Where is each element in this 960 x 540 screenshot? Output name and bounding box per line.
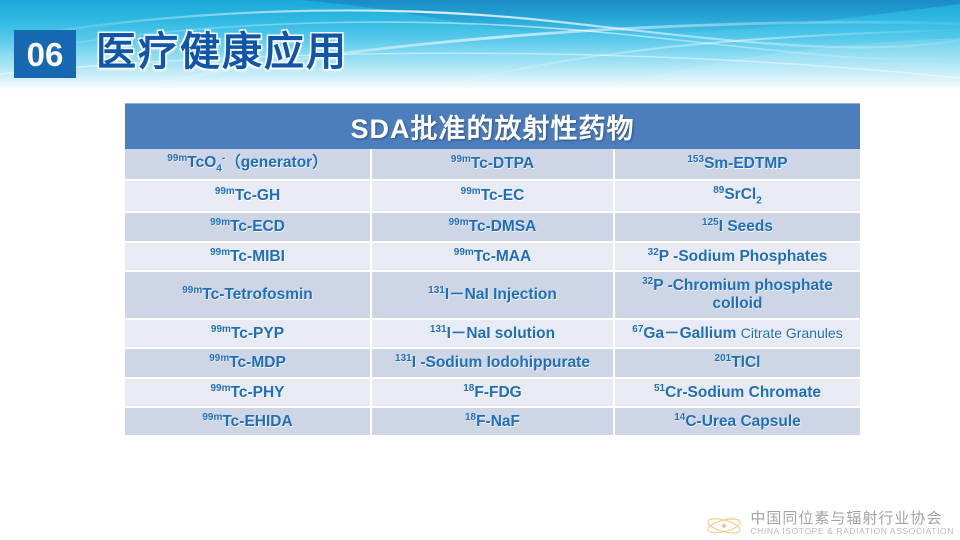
drug-table-container: SDA批准的放射性药物 99mTcO4-（generator）99mTc-DTP…	[125, 103, 860, 437]
section-number: 06	[27, 38, 64, 71]
table-cell: 153Sm-EDTMP	[614, 149, 860, 180]
table-cell: 89SrCl2	[614, 180, 860, 212]
table-cell: 99mTc-EHIDA	[125, 407, 371, 436]
table-row: 99mTc-Tetrofosmin131I－NaI Injection32P -…	[125, 271, 860, 319]
table-row: 99mTc-MIBI99mTc-MAA32P -Sodium Phosphate…	[125, 242, 860, 271]
table-cell: 18F-FDG	[371, 378, 614, 407]
table-cell: 99mTc-PHY	[125, 378, 371, 407]
table-cell: 18F-NaF	[371, 407, 614, 436]
table-cell: 99mTc-EC	[371, 180, 614, 212]
table-cell: 99mTc-ECD	[125, 212, 371, 241]
association-logo: CIRA 中国同位素与辐射行业协会 CHINA ISOTOPE & RADIAT…	[705, 511, 954, 536]
table-body: 99mTcO4-（generator）99mTc-DTPA153Sm-EDTMP…	[125, 149, 860, 436]
table-row: 99mTc-MDP131I -Sodium Iodohippurate201Tl…	[125, 348, 860, 377]
table-cell: 125I Seeds	[614, 212, 860, 241]
table-cell: 32P -Sodium Phosphates	[614, 242, 860, 271]
table-cell: 51Cr-Sodium Chromate	[614, 378, 860, 407]
approved-radiopharmaceuticals-table: 99mTcO4-（generator）99mTc-DTPA153Sm-EDTMP…	[125, 149, 860, 437]
table-row: 99mTc-ECD99mTc-DMSA125I Seeds	[125, 212, 860, 241]
table-cell: 99mTc-DTPA	[371, 149, 614, 180]
table-title: SDA批准的放射性药物	[350, 107, 634, 146]
table-cell: 201TlCl	[614, 348, 860, 377]
table-cell: 67Ga－Gallium Citrate Granules	[614, 319, 860, 348]
table-cell: 99mTcO4-（generator）	[125, 149, 371, 180]
table-cell: 99mTc-MAA	[371, 242, 614, 271]
table-row: 99mTc-GH99mTc-EC89SrCl2	[125, 180, 860, 212]
table-cell: 32P -Chromium phosphate colloid	[614, 271, 860, 319]
table-cell: 99mTc-PYP	[125, 319, 371, 348]
table-cell: 131I -Sodium Iodohippurate	[371, 348, 614, 377]
table-cell: 14C-Urea Capsule	[614, 407, 860, 436]
table-cell: 99mTc-GH	[125, 180, 371, 212]
section-number-badge: 06	[14, 30, 76, 78]
table-cell: 131I－NaI Injection	[371, 271, 614, 319]
logo-text-en: CHINA ISOTOPE & RADIATION ASSOCIATION	[750, 527, 954, 536]
table-cell: 99mTc-Tetrofosmin	[125, 271, 371, 319]
page-title: 医疗健康应用	[96, 26, 348, 78]
logo-mark-icon: CIRA	[705, 513, 743, 535]
table-row: 99mTc-PYP131I－NaI solution67Ga－Gallium C…	[125, 319, 860, 348]
table-cell: 99mTc-MDP	[125, 348, 371, 377]
table-row: 99mTc-PHY18F-FDG51Cr-Sodium Chromate	[125, 378, 860, 407]
table-cell: 131I－NaI solution	[371, 319, 614, 348]
table-cell: 99mTc-MIBI	[125, 242, 371, 271]
table-row: 99mTcO4-（generator）99mTc-DTPA153Sm-EDTMP	[125, 149, 860, 180]
svg-text:CIRA: CIRA	[727, 516, 737, 520]
table-cell: 99mTc-DMSA	[371, 212, 614, 241]
table-title-bar: SDA批准的放射性药物	[125, 103, 860, 149]
logo-text-cn: 中国同位素与辐射行业协会	[750, 511, 954, 527]
table-row: 99mTc-EHIDA18F-NaF14C-Urea Capsule	[125, 407, 860, 436]
